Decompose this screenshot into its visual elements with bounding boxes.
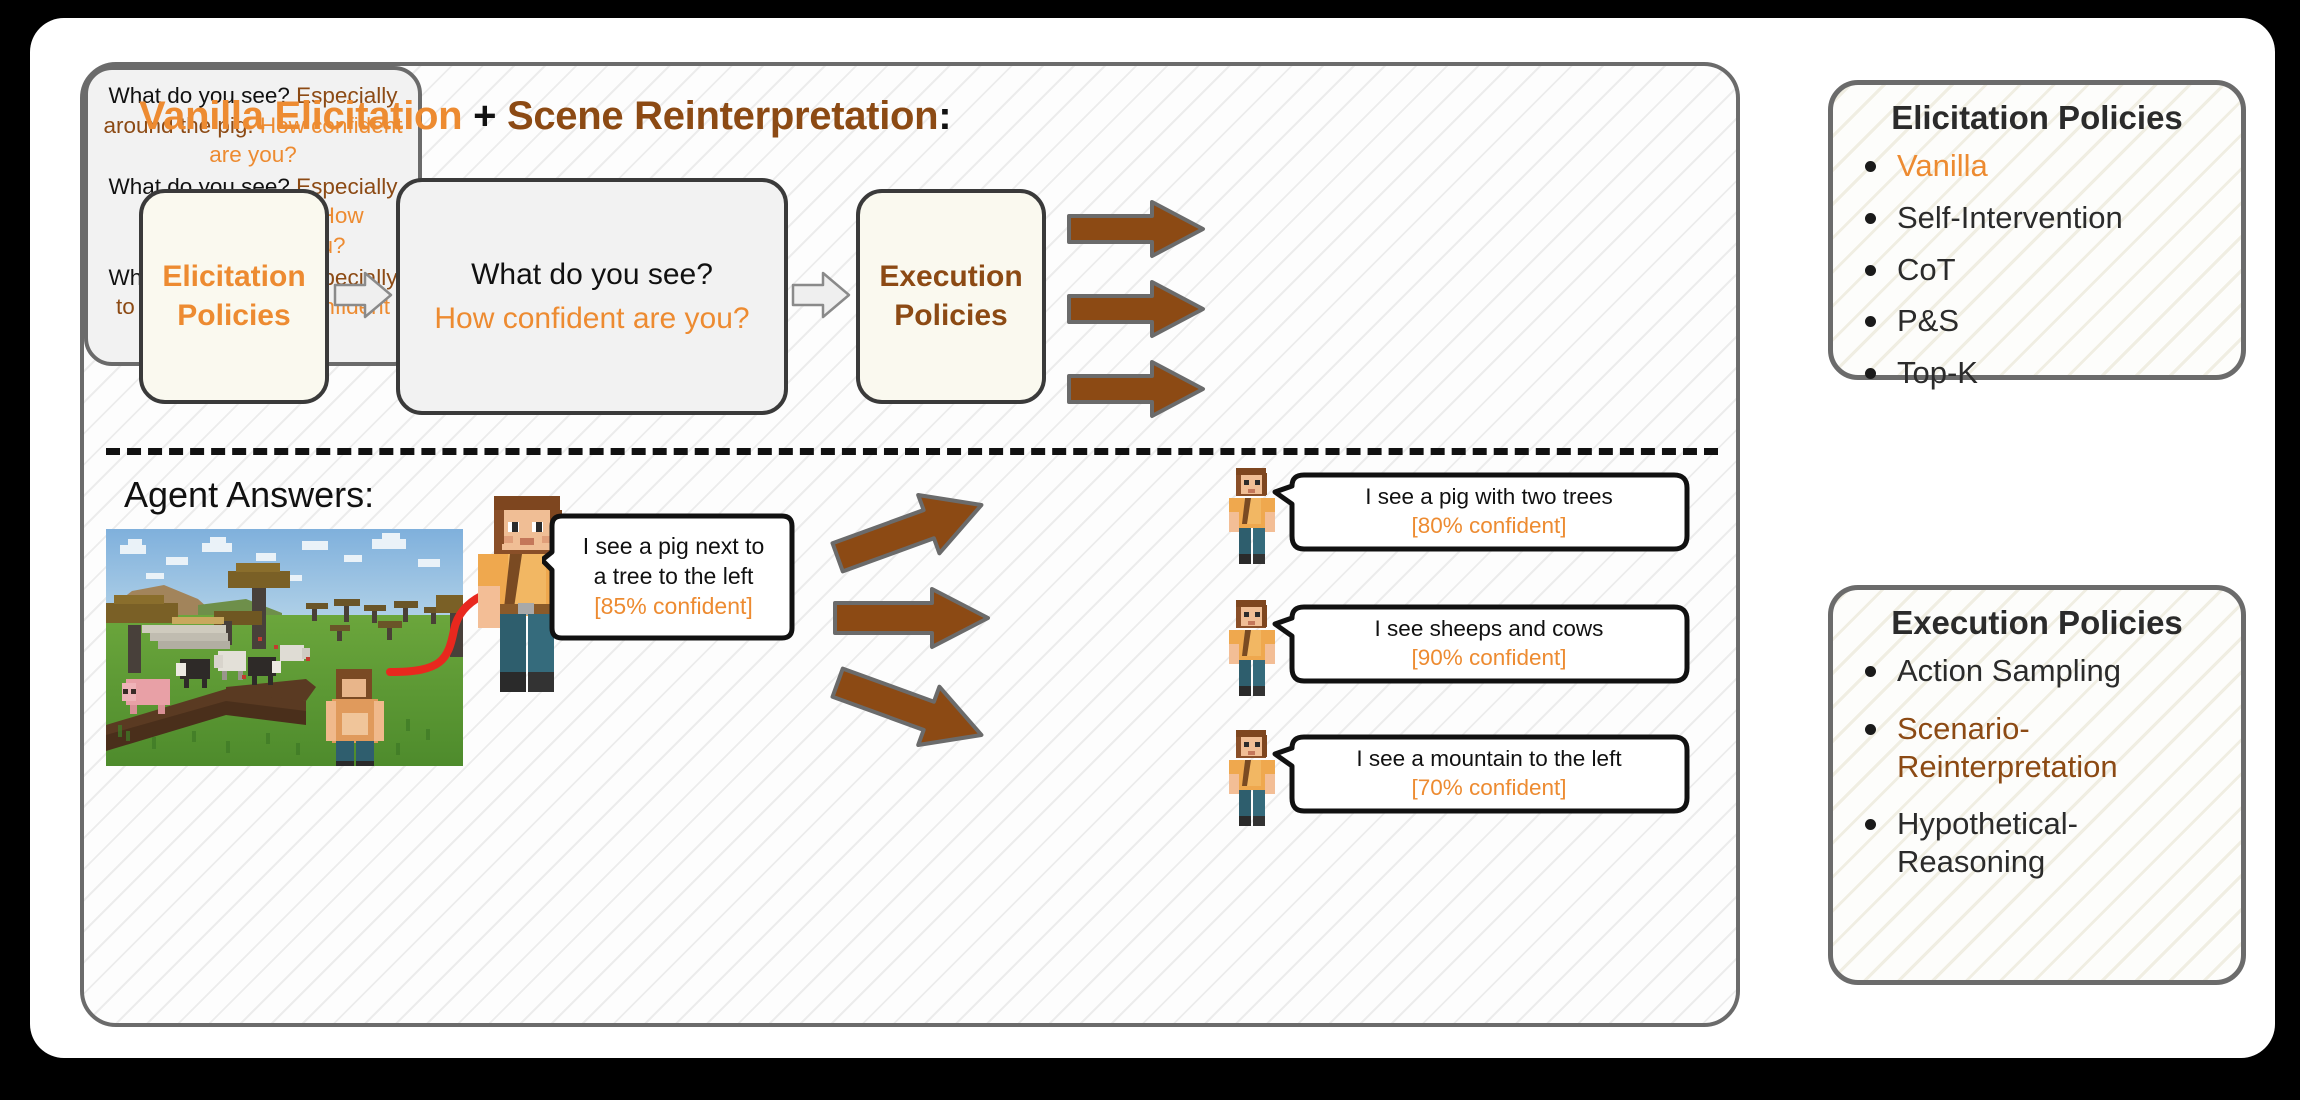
agent-answer-text: I see a pig with two trees [80% confiden…: [1272, 470, 1692, 554]
answer-0-text: I see a pig with two trees: [1365, 483, 1613, 512]
main-diagram-panel: Vanilla Elicitation + Scene Reinterpreta…: [80, 62, 1740, 1027]
title-colon: :: [938, 94, 951, 138]
chevron-arrow-icon: [333, 269, 393, 321]
agent-answer-row: I see sheeps and cows [90% confident]: [1224, 598, 1714, 708]
agent-answers-heading: Agent Answers:: [124, 474, 374, 516]
execution-policy-list: Action Sampling Scenario-Reinterpretatio…: [1851, 652, 2223, 881]
main-answer-line1: I see a pig next to: [583, 532, 765, 562]
right-arrow-icon: [832, 583, 992, 653]
agent-main-answer-bubble: I see a pig next to a tree to the left […: [542, 508, 797, 646]
answer-1-text: I see sheeps and cows: [1375, 615, 1604, 644]
agent-answer-bubble: I see sheeps and cows [90% confident]: [1272, 602, 1692, 686]
sidebar-item-ps[interactable]: P&S: [1851, 302, 2223, 340]
agent-answer-bubble: I see a pig with two trees [80% confiden…: [1272, 470, 1692, 554]
elicitation-panel-title: Elicitation Policies: [1851, 99, 2223, 137]
sidebar-item-topk[interactable]: Top-K: [1851, 354, 2223, 392]
answer-2-confidence: [70% confident]: [1411, 774, 1566, 803]
base-question-box[interactable]: What do you see? How confident are you?: [396, 178, 788, 415]
agent-answer-text: I see a mountain to the left [70% confid…: [1272, 732, 1692, 816]
agent-answer-bubble: I see a mountain to the left [70% confid…: [1272, 732, 1692, 816]
agent-answer-row: I see a mountain to the left [70% confid…: [1224, 728, 1714, 838]
execution-policies-panel: Execution Policies Action Sampling Scena…: [1828, 585, 2246, 985]
title-part-scene: Scene Reinterpretation: [507, 94, 938, 138]
answer-0-confidence: [80% confident]: [1411, 512, 1566, 541]
agent-answer-text: I see sheeps and cows [90% confident]: [1272, 602, 1692, 686]
elicitation-policies-panel: Elicitation Policies Vanilla Self-Interv…: [1828, 80, 2246, 380]
sidebar-item-cot[interactable]: CoT: [1851, 251, 2223, 289]
elicitation-policies-box-label: Elicitation Policies: [162, 258, 305, 335]
sidebar-item-vanilla[interactable]: Vanilla: [1851, 147, 2223, 185]
execution-panel-title: Execution Policies: [1851, 604, 2223, 642]
agent-answer-row: I see a pig with two trees [80% confiden…: [1224, 466, 1714, 576]
sidebar-item-scenario-reinterpretation[interactable]: Scenario-Reinterpretation: [1851, 710, 2223, 786]
elicitation-policies-box[interactable]: Elicitation Policies: [139, 189, 329, 404]
elicitation-label-line2: Policies: [177, 299, 290, 332]
execution-policies-box-label: Execution Policies: [879, 258, 1022, 335]
right-arrow-icon: [830, 486, 990, 576]
main-answer-confidence: [85% confident]: [594, 592, 753, 622]
execution-policies-box[interactable]: Execution Policies: [856, 189, 1046, 404]
chevron-arrow-icon: [791, 269, 851, 321]
base-question-what: What do you see?: [471, 258, 713, 291]
sidebar-item-self-intervention[interactable]: Self-Intervention: [1851, 199, 2223, 237]
main-answer-line2: a tree to the left: [594, 562, 754, 592]
execution-label-line2: Policies: [894, 299, 1007, 332]
answer-2-text: I see a mountain to the left: [1356, 745, 1621, 774]
figure-root: Vanilla Elicitation + Scene Reinterpreta…: [0, 0, 2300, 1100]
right-arrow-icon: [830, 664, 990, 754]
base-question-confidence: How confident are you?: [434, 302, 749, 335]
agent-main-answer-text: I see a pig next to a tree to the left […: [542, 508, 797, 646]
right-arrow-icon: [1066, 358, 1206, 420]
answer-1-confidence: [90% confident]: [1411, 644, 1566, 673]
panel-title: Vanilla Elicitation + Scene Reinterpreta…: [139, 94, 951, 139]
execution-label-line1: Execution: [879, 260, 1022, 293]
title-part-vanilla: Vanilla Elicitation: [139, 94, 462, 138]
right-arrow-icon: [1066, 278, 1206, 340]
elicitation-label-line1: Elicitation: [162, 260, 305, 293]
right-arrow-icon: [1066, 198, 1206, 260]
sidebar-item-action-sampling[interactable]: Action Sampling: [1851, 652, 2223, 690]
elicitation-policy-list: Vanilla Self-Intervention CoT P&S Top-K: [1851, 147, 2223, 392]
section-divider: [106, 448, 1718, 455]
base-question-text: What do you see? How confident are you?: [434, 253, 749, 340]
title-plus: +: [462, 94, 507, 138]
sidebar-item-hypothetical-reasoning[interactable]: Hypothetical-Reasoning: [1851, 805, 2223, 881]
